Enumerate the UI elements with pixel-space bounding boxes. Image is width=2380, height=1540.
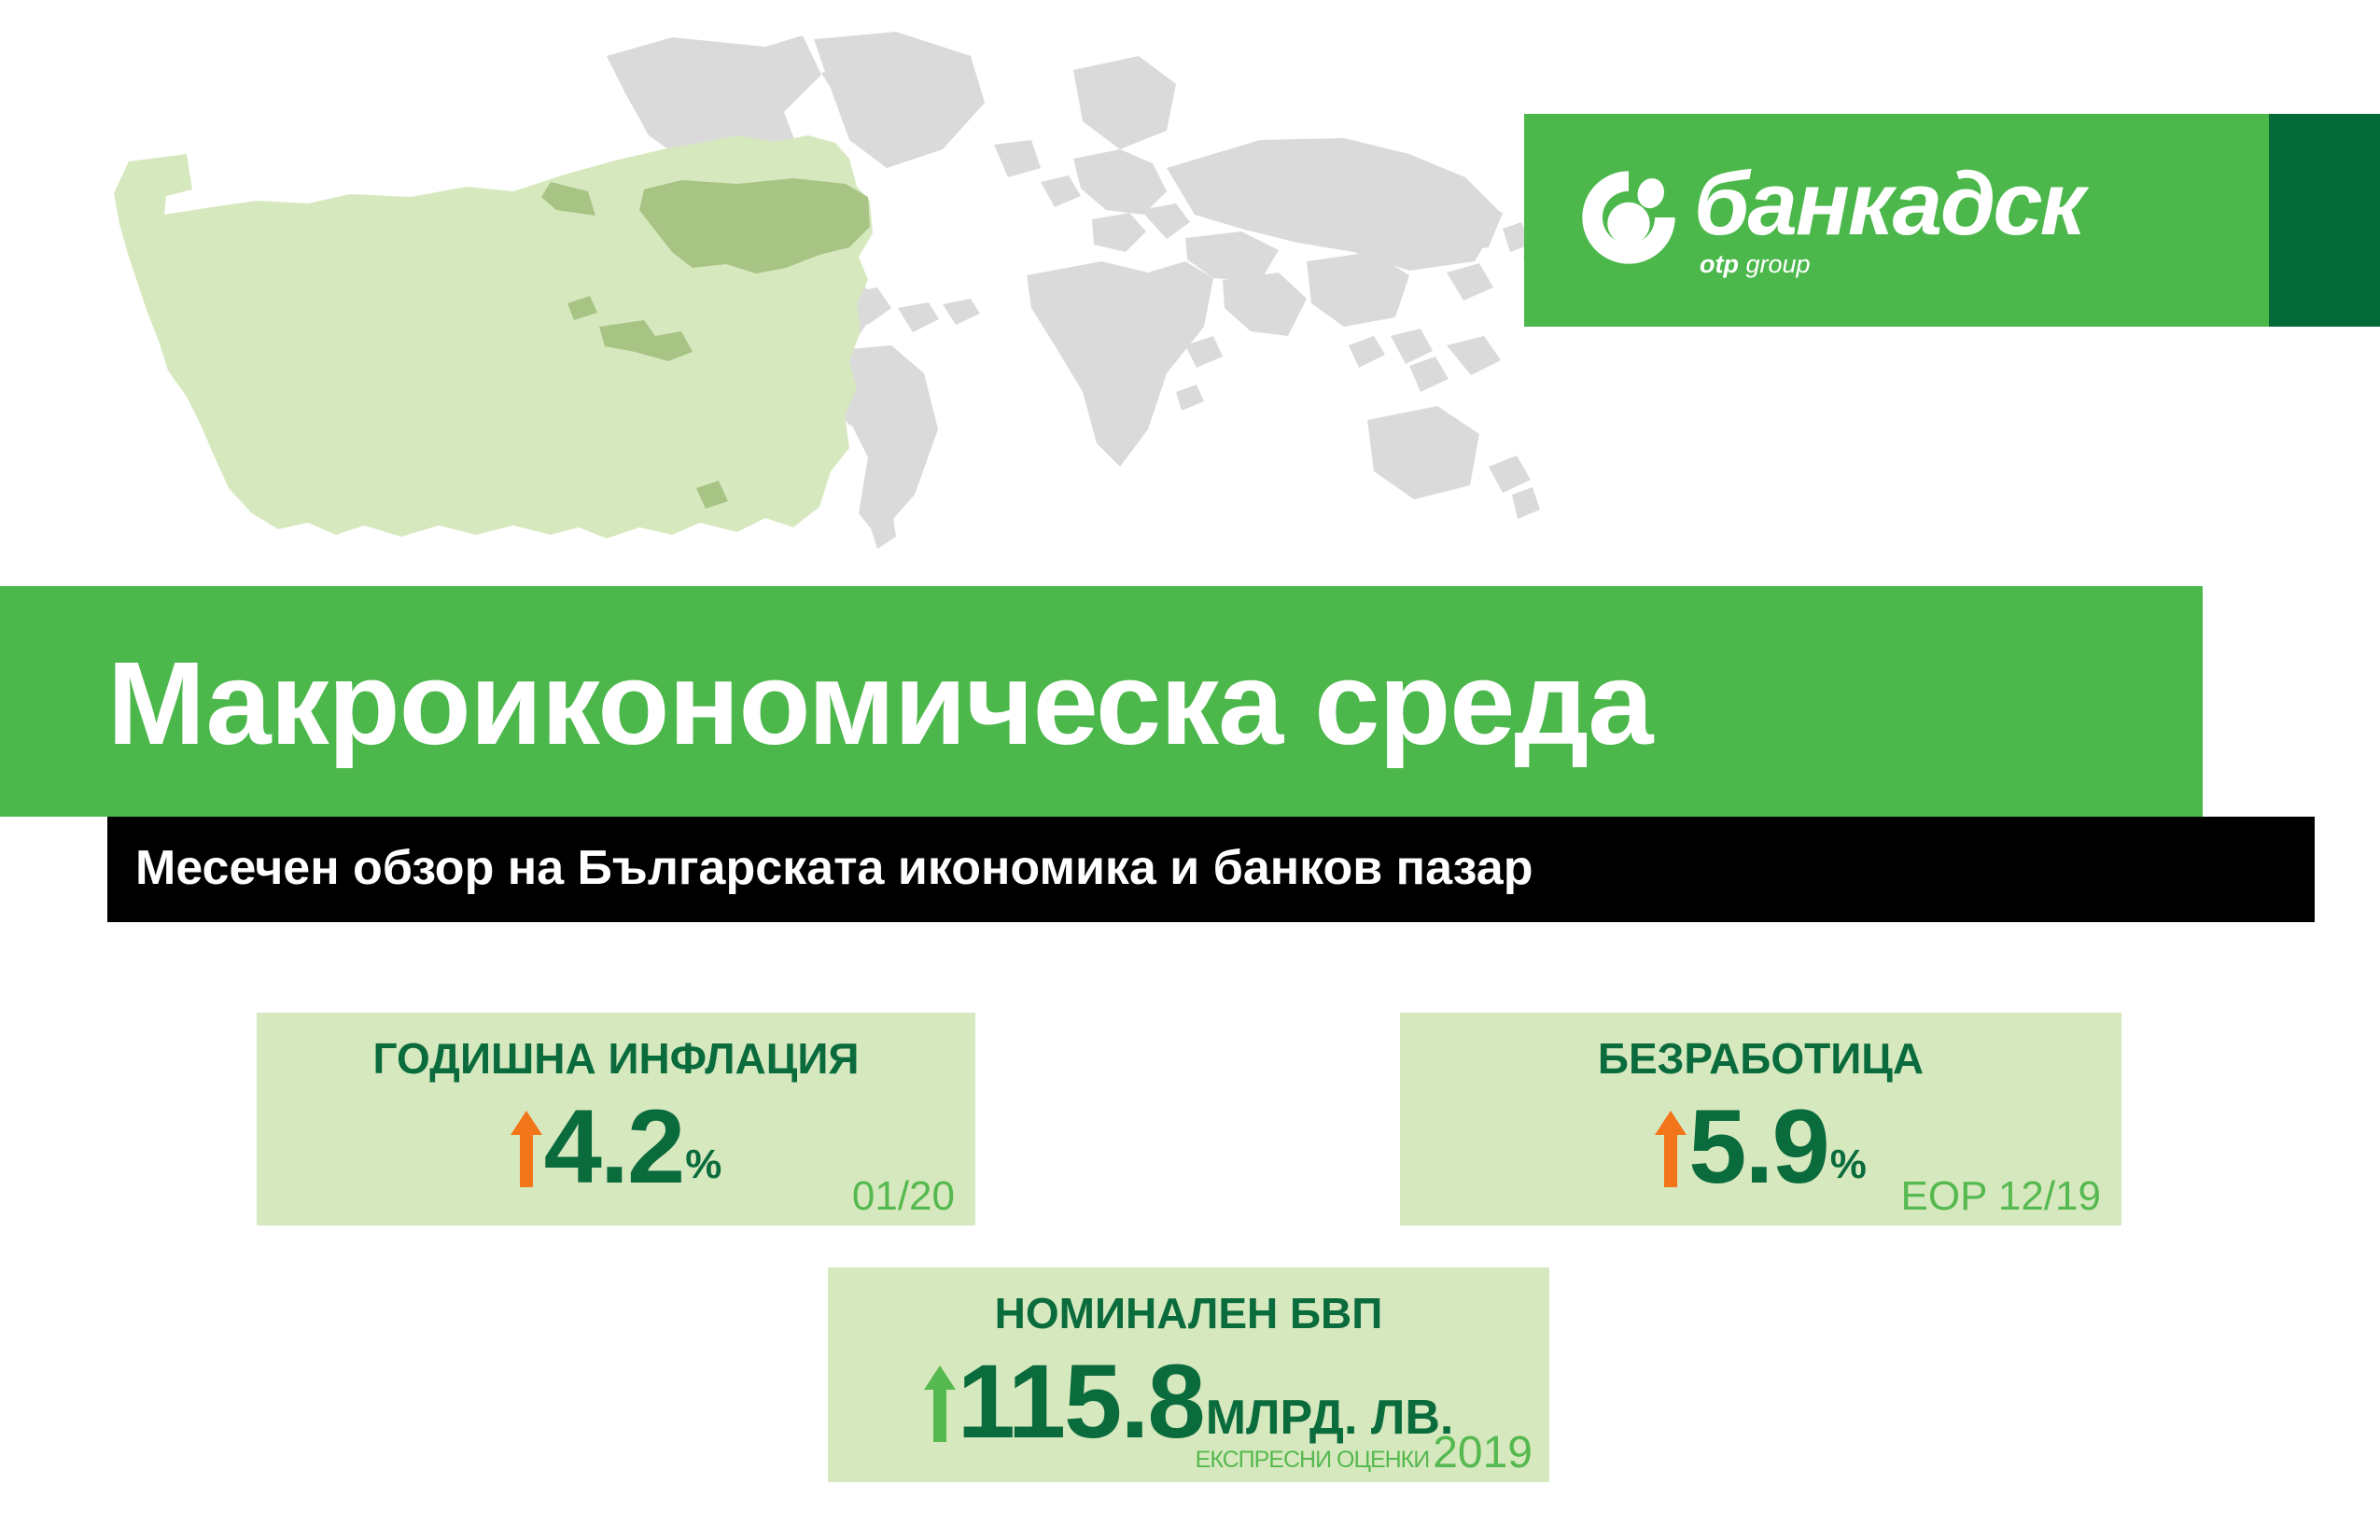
stat-card-number: 115.8 xyxy=(958,1353,1204,1449)
page-title: Макроикономическа среда xyxy=(107,605,2161,801)
arrow-up-icon xyxy=(924,1365,956,1442)
stat-card-footnote-year: 2019 xyxy=(1433,1427,1533,1478)
stat-card-number: 4.2 xyxy=(544,1099,684,1195)
logo-wordmark: банкадск xyxy=(1694,161,2082,247)
stat-card-title: ГОДИШНА ИНФЛАЦИЯ xyxy=(257,1033,975,1084)
arrow-up-icon xyxy=(1655,1111,1687,1187)
otp-circle-dot-icon xyxy=(1578,167,1679,268)
page-subtitle: Месечен обзор на Българската икономика и… xyxy=(135,825,1533,911)
stat-card-unit: % xyxy=(685,1144,721,1185)
stat-card-unit: % xyxy=(1830,1144,1867,1185)
stat-card-number: 5.9 xyxy=(1688,1099,1828,1195)
stat-card-gdp: НОМИНАЛЕН БВП 115.8 МЛРД. ЛВ. ЕКСПРЕСНИ … xyxy=(828,1267,1549,1482)
logo-subtext-bold: otp xyxy=(1700,250,1739,278)
bulgaria-highlight-icon xyxy=(28,23,924,565)
stat-card-title: БЕЗРАБОТИЦА xyxy=(1400,1033,2121,1084)
arrow-up-icon xyxy=(511,1111,542,1187)
stat-card-title: НОМИНАЛЕН БВП xyxy=(828,1288,1549,1338)
stat-card-footnote: 01/20 xyxy=(852,1173,955,1220)
logo-wordmark-bold: дск xyxy=(1940,154,2082,254)
logo-subtext-light: group xyxy=(1746,250,1811,278)
logo-wordmark-group: банкадск otp group xyxy=(1694,161,2082,278)
logo-wordmark-light: банка xyxy=(1694,154,1940,254)
stat-card-footnote-label: ЕКСПРЕСНИ ОЦЕНКИ xyxy=(1196,1447,1430,1474)
bank-logo[interactable]: банкадск otp group xyxy=(1524,114,2269,327)
stat-card-footnote: EOP 12/19 xyxy=(1901,1173,2101,1220)
stat-card-unemployment: БЕЗРАБОТИЦА 5.9 % EOP 12/19 xyxy=(1400,1013,2121,1225)
stat-card-inflation: ГОДИШНА ИНФЛАЦИЯ 4.2 % 01/20 xyxy=(257,1013,975,1225)
stat-card-footnote: ЕКСПРЕСНИ ОЦЕНКИ 2019 xyxy=(1196,1427,1533,1478)
logo-accent-band xyxy=(2269,114,2380,327)
